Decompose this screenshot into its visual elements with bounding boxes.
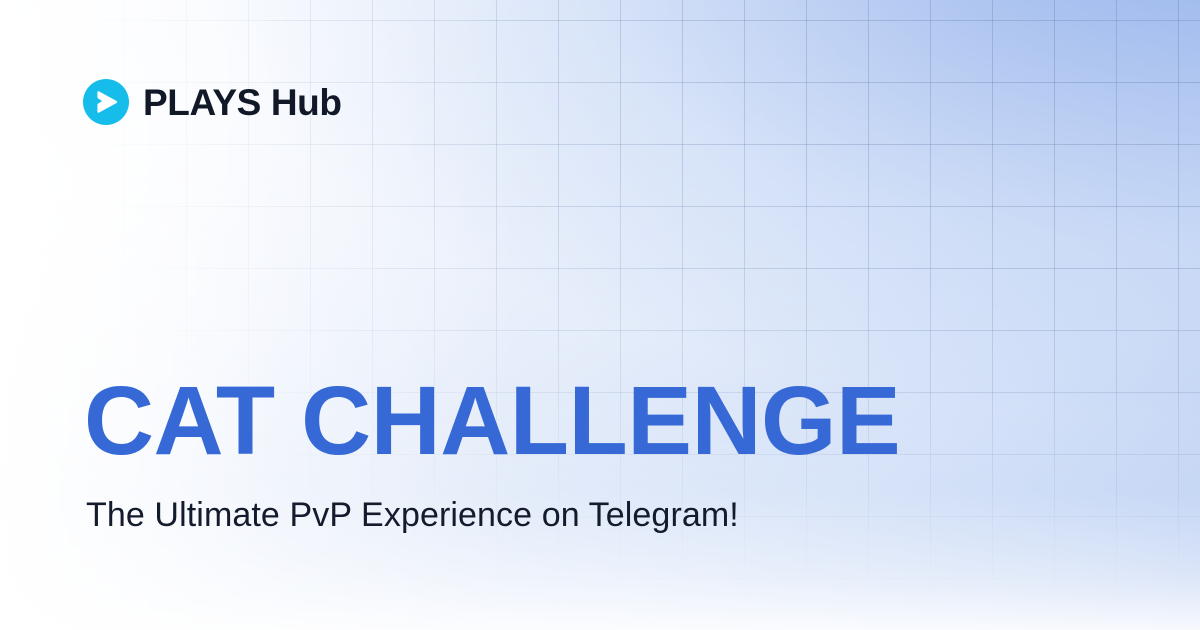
hero-text-block: CAT CHALLENGE The Ultimate PvP Experienc… [84,372,900,536]
page-title: CAT CHALLENGE [84,372,900,469]
promo-banner: PLAYS Hub CAT CHALLENGE The Ultimate PvP… [0,0,1200,630]
play-arrow-circle-icon [83,79,129,125]
page-subtitle: The Ultimate PvP Experience on Telegram! [86,495,900,536]
brand-name: PLAYS Hub [143,84,342,121]
brand-lockup[interactable]: PLAYS Hub [83,79,342,125]
